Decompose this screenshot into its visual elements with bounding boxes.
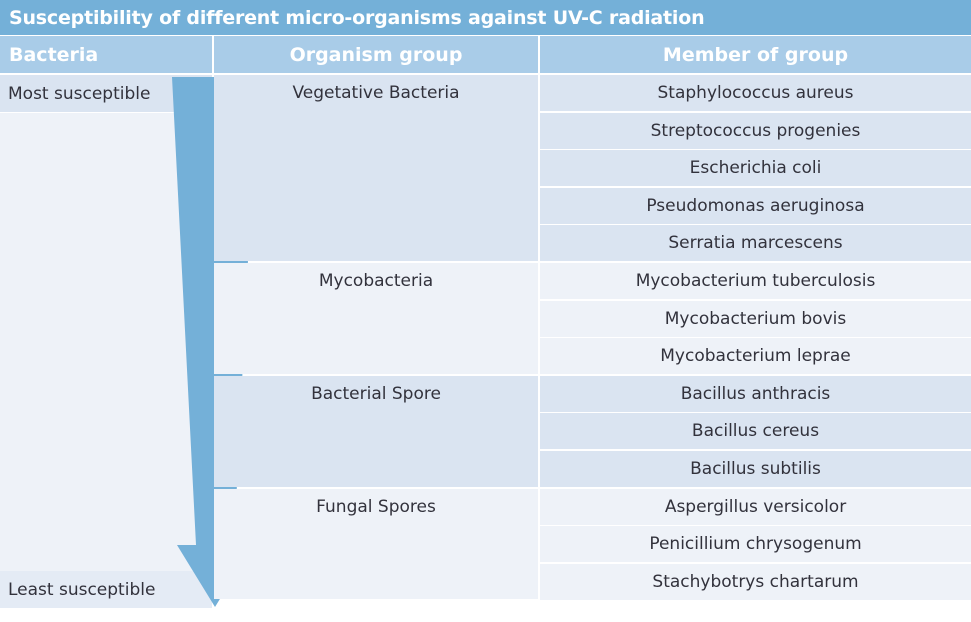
member-row: Staphylococcus aureus [540,75,971,111]
column-header-organism-group: Organism group [214,36,538,73]
member-row: Streptococcus progenies [540,113,971,149]
organism-group-cell: Fungal Spores [214,489,538,600]
page-title: Susceptibility of different micro-organi… [0,7,704,29]
member-row: Bacillus cereus [540,413,971,449]
member-row: Bacillus subtilis [540,451,971,487]
table-title-bar: Susceptibility of different micro-organi… [0,0,971,35]
organism-group-cell: Bacterial Spore [214,376,538,487]
member-row: Serratia marcescens [540,225,971,261]
bacteria-column-footer-fill [0,609,212,622]
column-header-bacteria: Bacteria [0,36,212,73]
member-label: Pseudomonas aeruginosa [646,196,864,216]
organism-group-label: Mycobacteria [319,271,433,374]
member-label: Escherichia coli [690,158,822,178]
member-row: Bacillus anthracis [540,376,971,412]
member-row: Escherichia coli [540,150,971,186]
member-label: Penicillium chrysogenum [649,534,861,554]
most-susceptible-label: Most susceptible [0,75,212,112]
susceptibility-table: Susceptibility of different micro-organi… [0,0,971,622]
table-body: Most susceptible Least susceptible Veget… [0,75,971,622]
organism-group-label: Vegetative Bacteria [292,83,459,261]
organism-group-column: Vegetative BacteriaMycobacteriaBacterial… [214,75,538,622]
member-label: Serratia marcescens [668,233,842,253]
organism-group-label: Bacterial Spore [311,384,441,487]
member-row: Mycobacterium leprae [540,338,971,374]
bacteria-scale-column: Most susceptible Least susceptible [0,75,212,622]
column-header-member-of-group: Member of group [540,36,971,73]
member-row: Pseudomonas aeruginosa [540,188,971,224]
member-row: Stachybotrys chartarum [540,564,971,600]
member-row: Mycobacterium bovis [540,301,971,337]
least-susceptible-label: Least susceptible [0,571,212,608]
bacteria-column-fill [0,113,212,571]
organism-group-cell: Mycobacteria [214,263,538,374]
member-label: Stachybotrys chartarum [652,572,858,592]
organism-group-label: Fungal Spores [316,497,436,600]
member-label: Streptococcus progenies [651,121,861,141]
member-label: Staphylococcus aureus [658,83,854,103]
member-row: Penicillium chrysogenum [540,526,971,562]
member-label: Mycobacterium leprae [660,346,850,366]
member-label: Mycobacterium tuberculosis [636,271,876,291]
member-row: Aspergillus versicolor [540,489,971,525]
member-label: Aspergillus versicolor [665,497,846,517]
member-row: Mycobacterium tuberculosis [540,263,971,299]
table-header-row: Bacteria Organism group Member of group [0,36,971,73]
member-label: Mycobacterium bovis [665,309,846,329]
member-label: Bacillus cereus [692,421,819,441]
member-label: Bacillus subtilis [690,459,821,479]
member-label: Bacillus anthracis [681,384,831,404]
member-of-group-column: Staphylococcus aureusStreptococcus proge… [540,75,971,622]
organism-group-cell: Vegetative Bacteria [214,75,538,261]
